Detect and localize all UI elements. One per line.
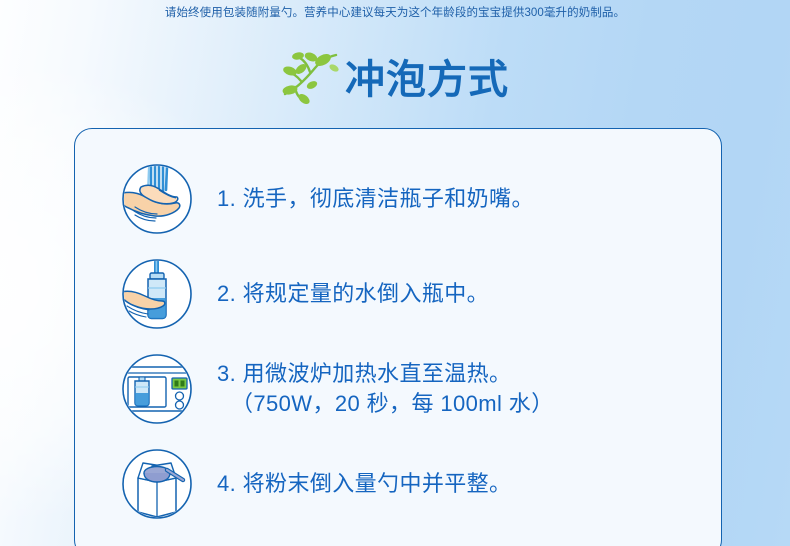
step-line-1: 2. 将规定量的水倒入瓶中。 [217, 281, 489, 306]
steps-list: 1. 洗手，彻底清洁瓶子和奶嘴。 [75, 151, 721, 531]
step-text: 1. 洗手，彻底清洁瓶子和奶嘴。 [217, 184, 534, 214]
section-title-text: 冲泡方式 [345, 57, 509, 103]
section-title: 冲泡方式 [0, 50, 790, 110]
instruction-page: 请始终使用包装随附量勺。营养中心建议每天为这个年龄段的宝宝提供300毫升的奶制品… [0, 0, 790, 546]
step-line-1: 4. 将粉末倒入量勺中并平整。 [217, 471, 511, 496]
step-line-1: 3. 用微波炉加热水直至温热。 [217, 361, 511, 386]
step-text: 4. 将粉末倒入量勺中并平整。 [217, 469, 511, 499]
step-line-2: （750W，20 秒，每 100ml 水） [217, 389, 554, 419]
washing-hands-icon [121, 163, 193, 235]
step-text: 3. 用微波炉加热水直至温热。 （750W，20 秒，每 100ml 水） [217, 359, 554, 419]
microwave-heating-icon [121, 353, 193, 425]
step-text: 2. 将规定量的水倒入瓶中。 [217, 279, 489, 309]
list-item: 1. 洗手，彻底清洁瓶子和奶嘴。 [75, 151, 721, 246]
list-item: 4. 将粉末倒入量勺中并平整。 [75, 436, 721, 531]
list-item: 2. 将规定量的水倒入瓶中。 [75, 246, 721, 341]
step-line-1: 1. 洗手，彻底清洁瓶子和奶嘴。 [217, 186, 534, 211]
powder-scoop-level-icon [121, 448, 193, 520]
list-item: 3. 用微波炉加热水直至温热。 （750W，20 秒，每 100ml 水） [75, 341, 721, 436]
filling-bottle-with-water-icon [121, 258, 193, 330]
intro-text: 请始终使用包装随附量勺。营养中心建议每天为这个年龄段的宝宝提供300毫升的奶制品… [0, 5, 790, 21]
green-leaf-branch-icon [281, 50, 343, 106]
instructions-card: 1. 洗手，彻底清洁瓶子和奶嘴。 [74, 128, 722, 546]
